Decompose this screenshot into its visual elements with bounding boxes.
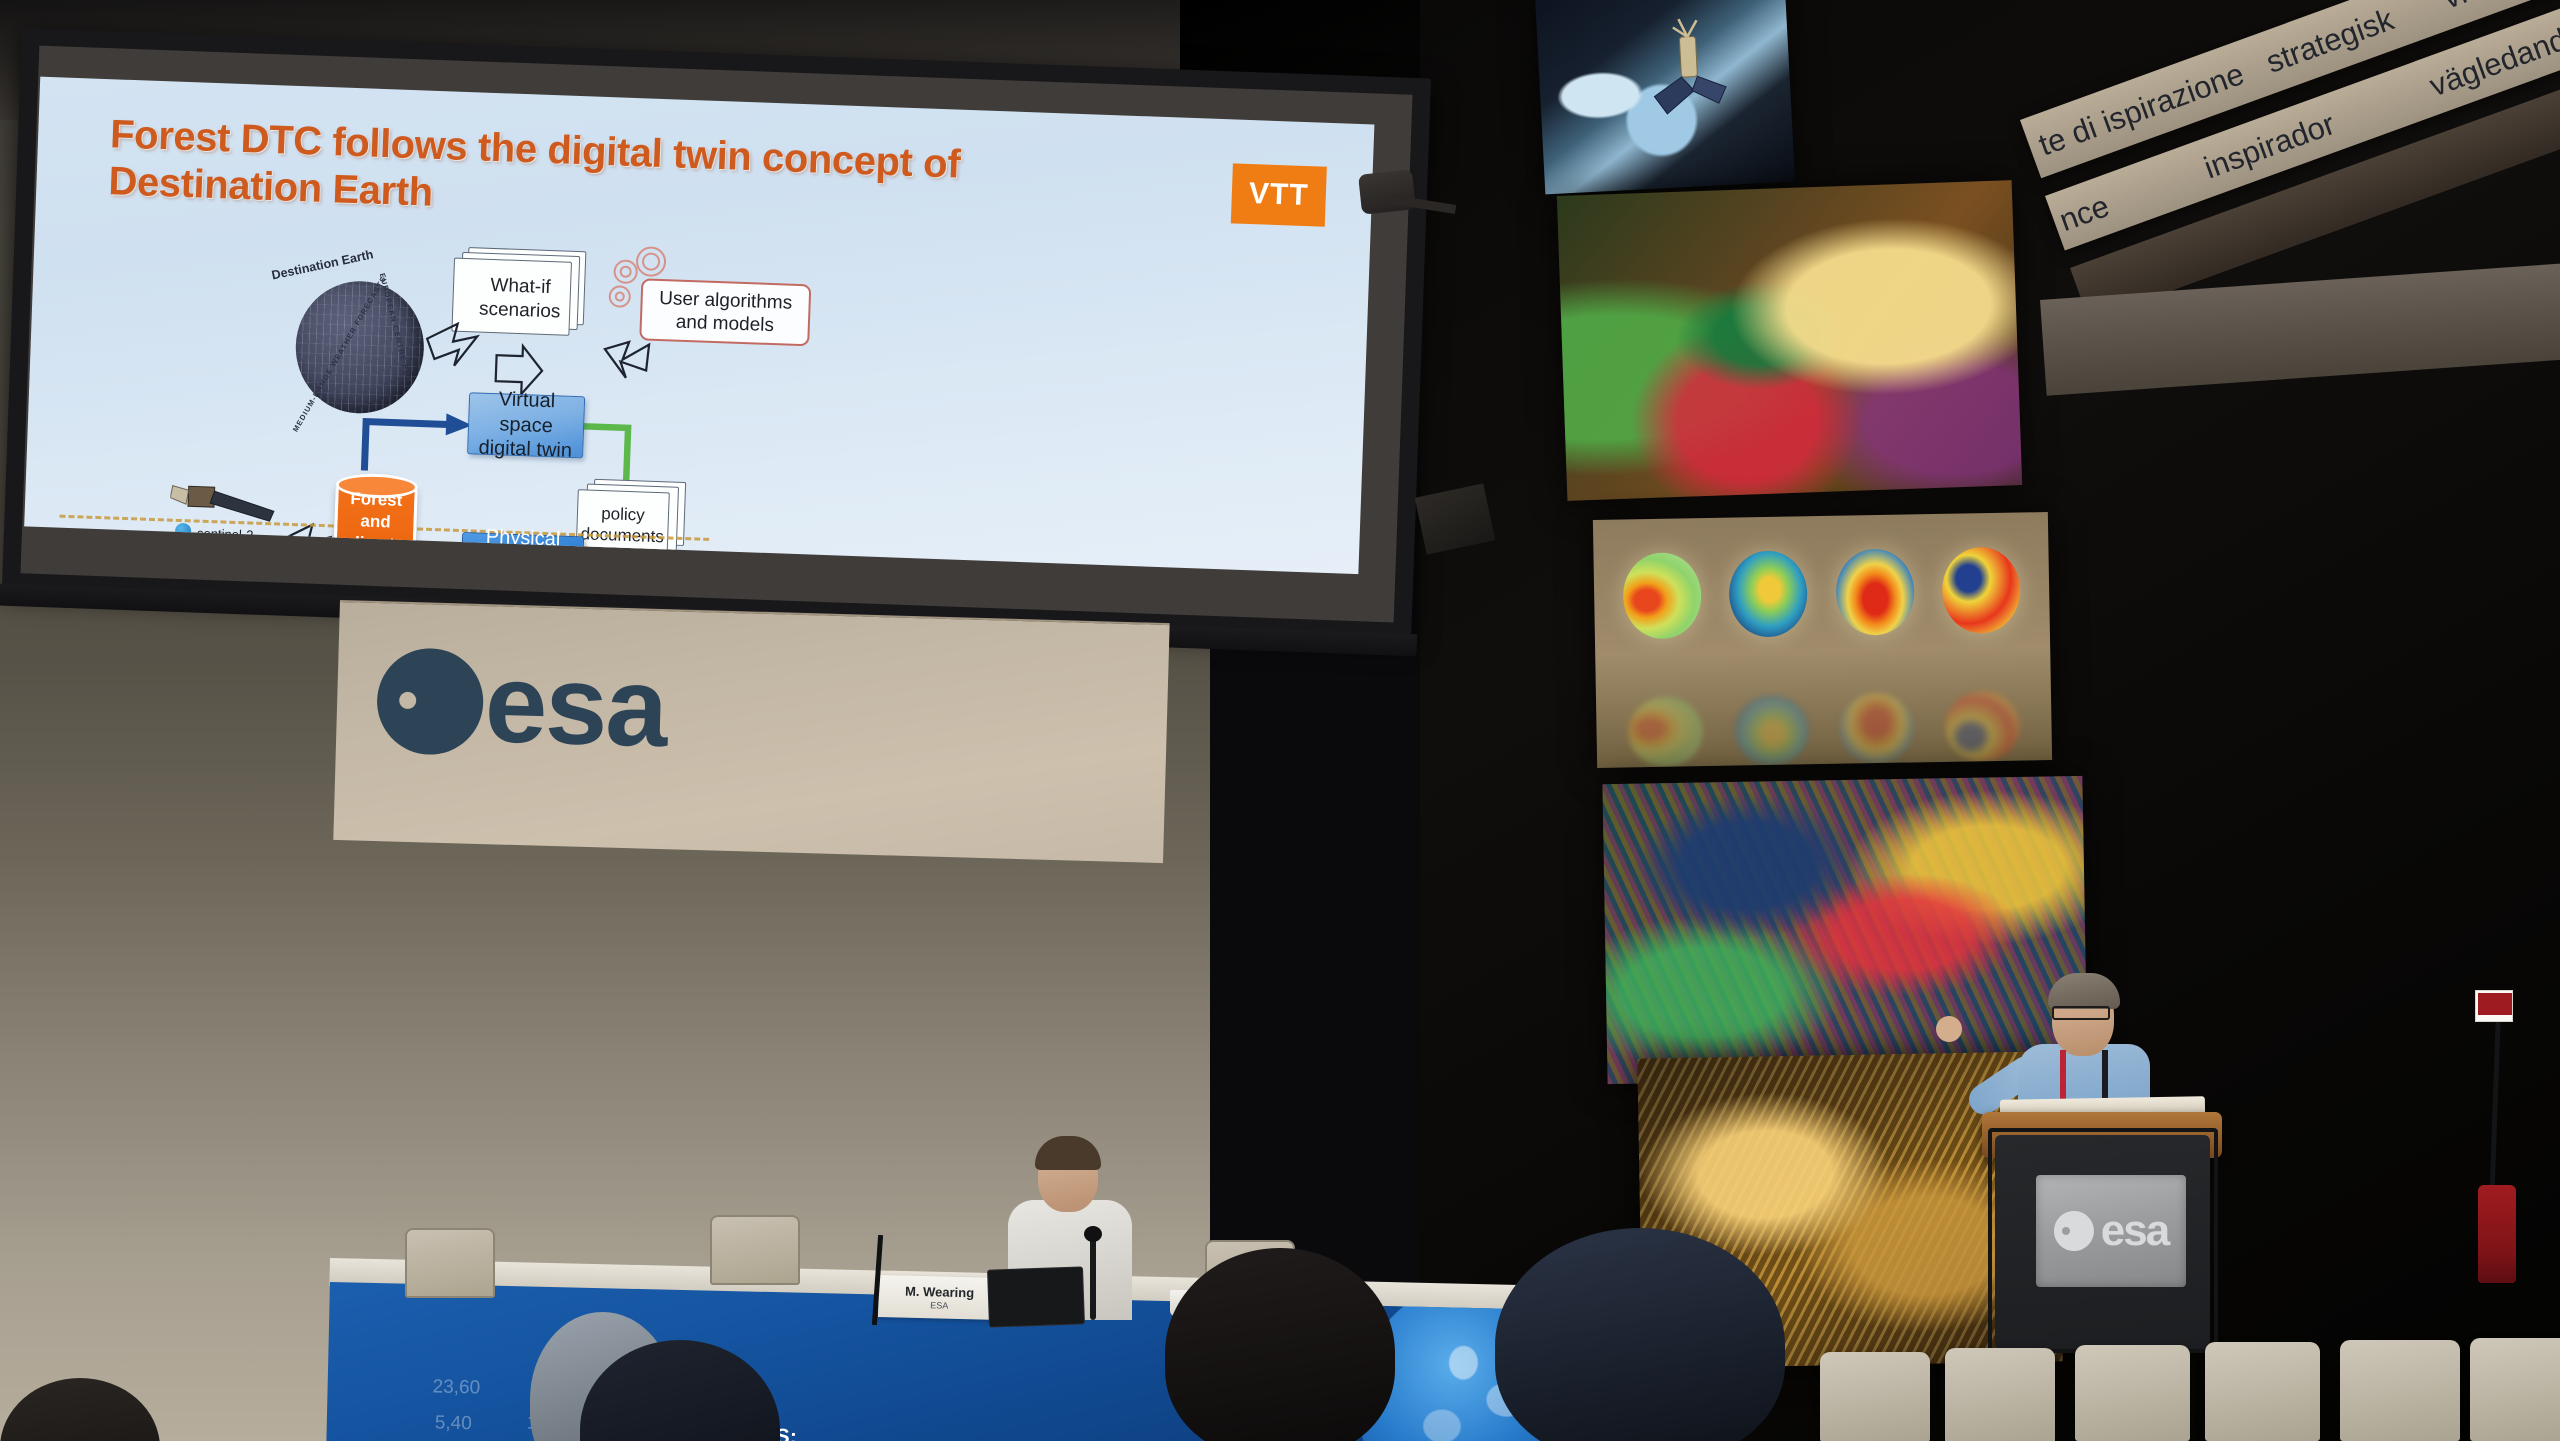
esa-wall-wordmark: esa [484,659,667,751]
audience-chair-1 [1820,1352,1930,1441]
what-if-scenarios-label: What-if scenarios [452,273,589,325]
destination-earth-logo: Destination Earth EUROPEAN CENTRE FOR ME… [263,250,454,441]
audience-head-longhair [1165,1248,1395,1441]
glasses-icon [2052,1006,2110,1020]
banner-number-2: 5,40 [435,1412,472,1435]
auditorium-scene: Forest DTC follows the digital twin conc… [0,0,2560,1441]
laptop [987,1266,1085,1327]
speaker-hand [1936,1016,1962,1042]
globe-4 [1942,546,2021,633]
four-globes-display [1593,512,2052,768]
nameplate: M. Wearing ESA [878,1275,1001,1320]
projection-screen: Forest DTC follows the digital twin conc… [1,28,1452,679]
what-if-scenarios-node: What-if scenarios [451,247,589,347]
slide-title: Forest DTC follows the digital twin conc… [108,111,1141,242]
esa-wall-logo: esa [376,647,668,761]
nameplate-name: M. Wearing [905,1284,974,1301]
ceiling-light-icon [1358,169,1416,214]
vtt-logo: VTT [1231,163,1327,226]
virtual-space-node: Virtual space digital twin [467,392,585,458]
globe-reflections [1595,656,2052,768]
esa-moon-icon [376,647,485,756]
esa-wall-panel: esa [333,600,1169,863]
radar-terrain-image [1557,180,2022,501]
interferogram-image [1602,776,2087,1084]
audience-chair-4 [2205,1342,2320,1441]
banner-number-1: 23,60 [432,1376,480,1399]
globe-1 [1622,552,1701,639]
destination-earth-label: Destination Earth [270,247,374,282]
empty-chair-1 [405,1228,495,1298]
microphone-stand [1090,1235,1096,1320]
audience-chair-3 [2075,1345,2190,1441]
microphone-icon [1084,1226,1102,1242]
podium-esa-logo: esa [2054,1211,2168,1251]
podium-esa-plaque: esa [2036,1175,2186,1287]
fire-extinguisher-icon [2478,1185,2516,1283]
podium-esa-moon-icon [2054,1211,2094,1251]
vtt-logo-label: VTT [1248,177,1309,213]
fire-extinguisher-sign [2475,990,2513,1022]
presentation-slide: Forest DTC follows the digital twin conc… [24,77,1374,574]
satellite-model-icon [1648,14,1744,134]
audience-chair-5 [2340,1340,2460,1441]
podium-esa-wordmark: esa [2101,1213,2168,1248]
user-algorithms-node: User algorithms and models [639,278,811,346]
sentinel-2-logo: sentinel-2 [169,482,281,537]
globe-2 [1729,550,1808,637]
nameplate-org: ESA [930,1300,948,1310]
audience-chair-6 [2470,1338,2560,1441]
policy-documents-label: policy documents [576,502,687,548]
empty-chair-2 [710,1215,800,1285]
audience-chair-2 [1945,1348,2055,1441]
banner-word-nce: nce [2055,188,2114,239]
globe-3 [1835,548,1914,635]
ice-satellite-image [1535,0,1795,194]
